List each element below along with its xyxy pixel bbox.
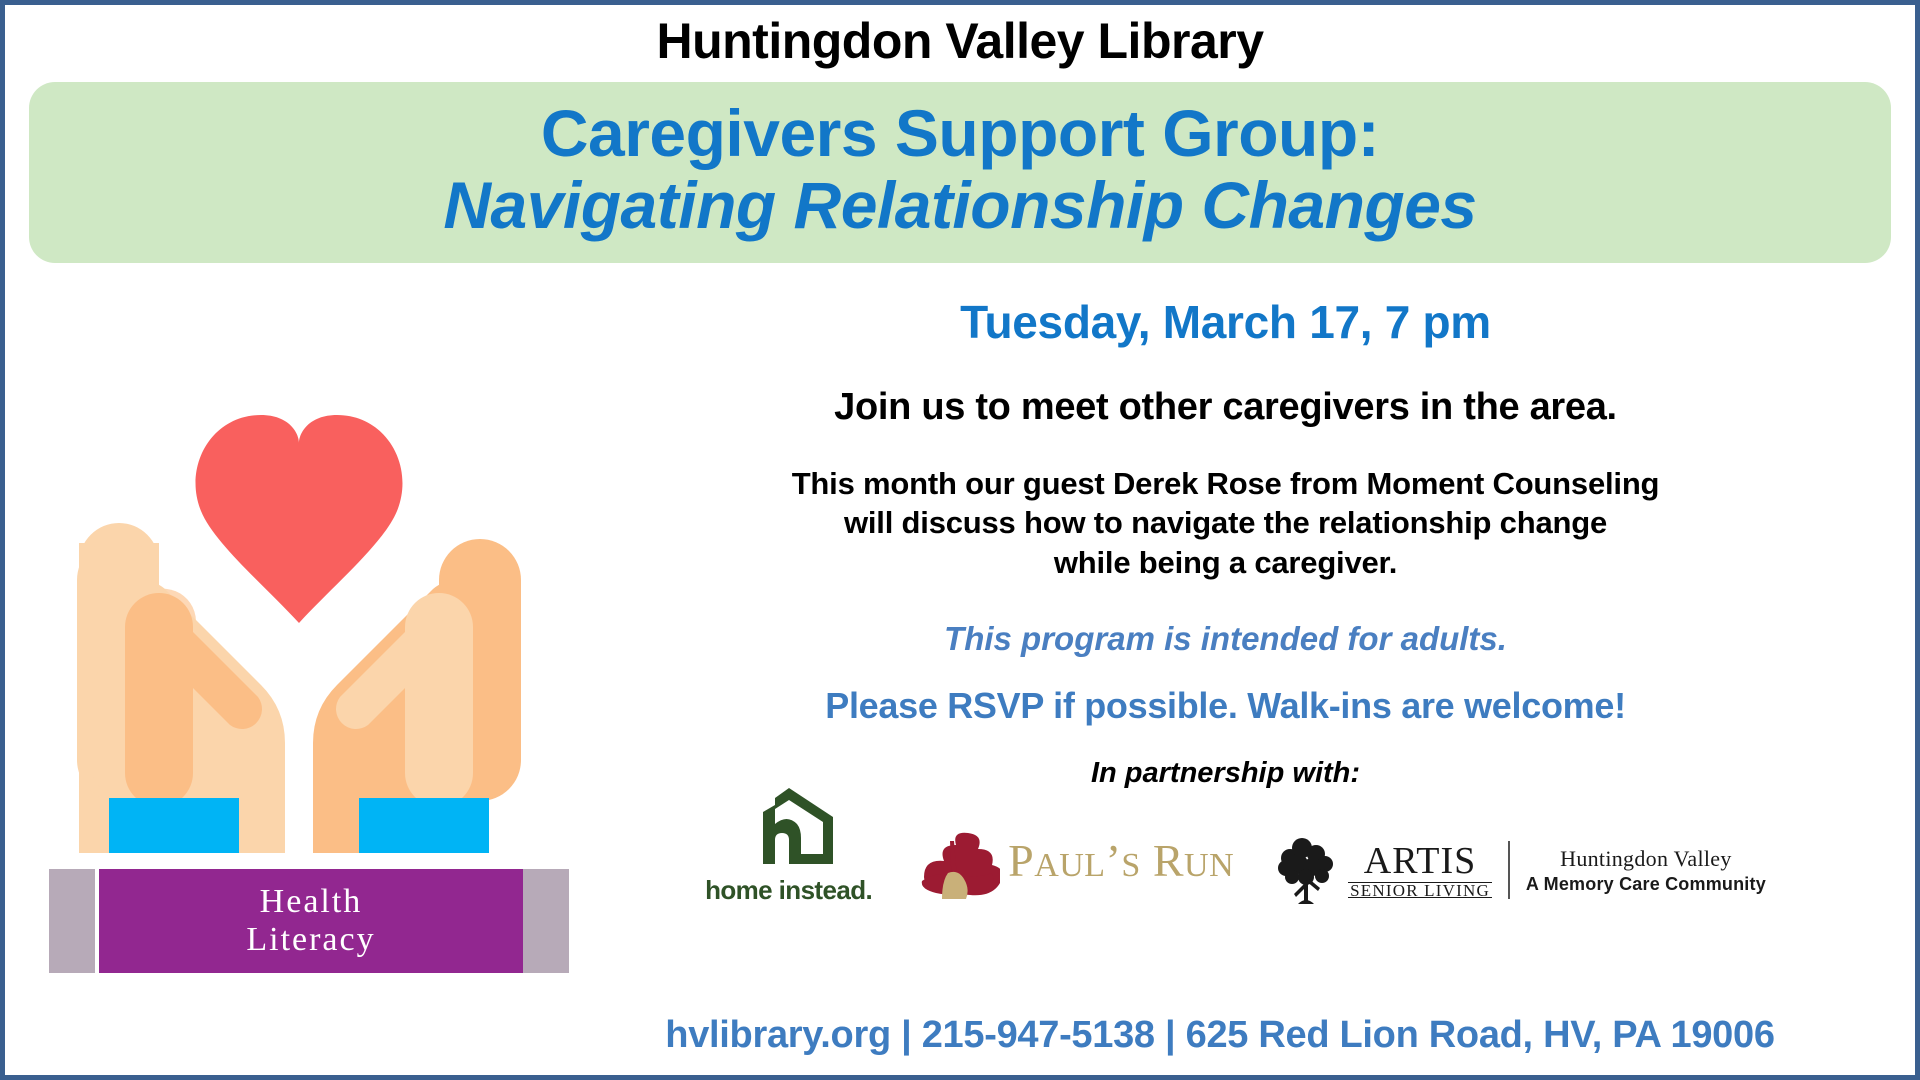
artis-tree-icon	[1276, 834, 1338, 906]
pauls-run-wordmark: PAUL’S RUN	[1008, 838, 1234, 884]
footer-contact[interactable]: hvlibrary.org | 215-947-5138 | 625 Red L…	[525, 1014, 1915, 1057]
artis-subtitle: SENIOR LIVING	[1348, 882, 1492, 899]
title-band: Caregivers Support Group: Navigating Rel…	[29, 82, 1891, 264]
artis-rule: SENIOR LIVING	[1348, 882, 1492, 898]
pauls-run-tree-icon	[914, 815, 1000, 906]
health-literacy-word-literacy: Literacy	[246, 921, 375, 960]
home-instead-wordmark: home instead.	[705, 875, 872, 906]
health-literacy-left-bar	[49, 869, 95, 973]
health-literacy-logo: Health Literacy	[49, 869, 569, 973]
event-description-line1: This month our guest Derek Rose from Mom…	[570, 464, 1881, 504]
body-columns: Health Literacy Tuesday, March 17, 7 pm …	[5, 279, 1915, 1019]
artis-community-location: Huntingdon Valley	[1526, 845, 1766, 873]
artis-community: Huntingdon Valley A Memory Care Communit…	[1526, 845, 1766, 895]
event-description-line2: will discuss how to navigate the relatio…	[570, 503, 1881, 543]
artis-community-tagline: A Memory Care Community	[1526, 873, 1766, 896]
audience-note: This program is intended for adults.	[570, 619, 1881, 659]
artis-wordmark: ARTIS SENIOR LIVING	[1348, 842, 1492, 898]
home-instead-house-icon	[741, 784, 837, 873]
event-description-line3: while being a caregiver.	[570, 543, 1881, 583]
health-literacy-right-bar	[523, 869, 569, 973]
event-invitation: Join us to meet other caregivers in the …	[570, 386, 1881, 430]
right-column: Tuesday, March 17, 7 pm Join us to meet …	[570, 279, 1915, 1019]
flyer-canvas: Huntingdon Valley Library Caregivers Sup…	[0, 0, 1920, 1080]
footer: hvlibrary.org | 215-947-5138 | 625 Red L…	[5, 1014, 1915, 1057]
left-column: Health Literacy	[5, 279, 570, 1019]
partner-logo-artis-senior-living: ARTIS SENIOR LIVING Huntingdon Valley A …	[1276, 834, 1766, 906]
organization-title: Huntingdon Valley Library	[5, 15, 1915, 68]
artis-title: ARTIS	[1364, 842, 1477, 880]
health-literacy-panel: Health Literacy	[99, 869, 523, 973]
partner-logo-pauls-run: PAUL’S RUN	[914, 815, 1234, 906]
artis-divider	[1508, 841, 1510, 899]
partner-logo-home-instead: home instead.	[705, 784, 872, 906]
event-title-line2: Navigating Relationship Changes	[49, 169, 1871, 242]
hands-holding-heart-icon	[39, 293, 559, 853]
event-date: Tuesday, March 17, 7 pm	[570, 297, 1881, 348]
health-literacy-word-health: Health	[260, 883, 363, 922]
partner-logo-row: home instead. PAUL’S RUN	[570, 784, 1881, 906]
event-title-line1: Caregivers Support Group:	[49, 98, 1871, 169]
event-description: This month our guest Derek Rose from Mom…	[570, 464, 1881, 583]
rsvp-note: Please RSVP if possible. Walk-ins are we…	[570, 684, 1881, 727]
